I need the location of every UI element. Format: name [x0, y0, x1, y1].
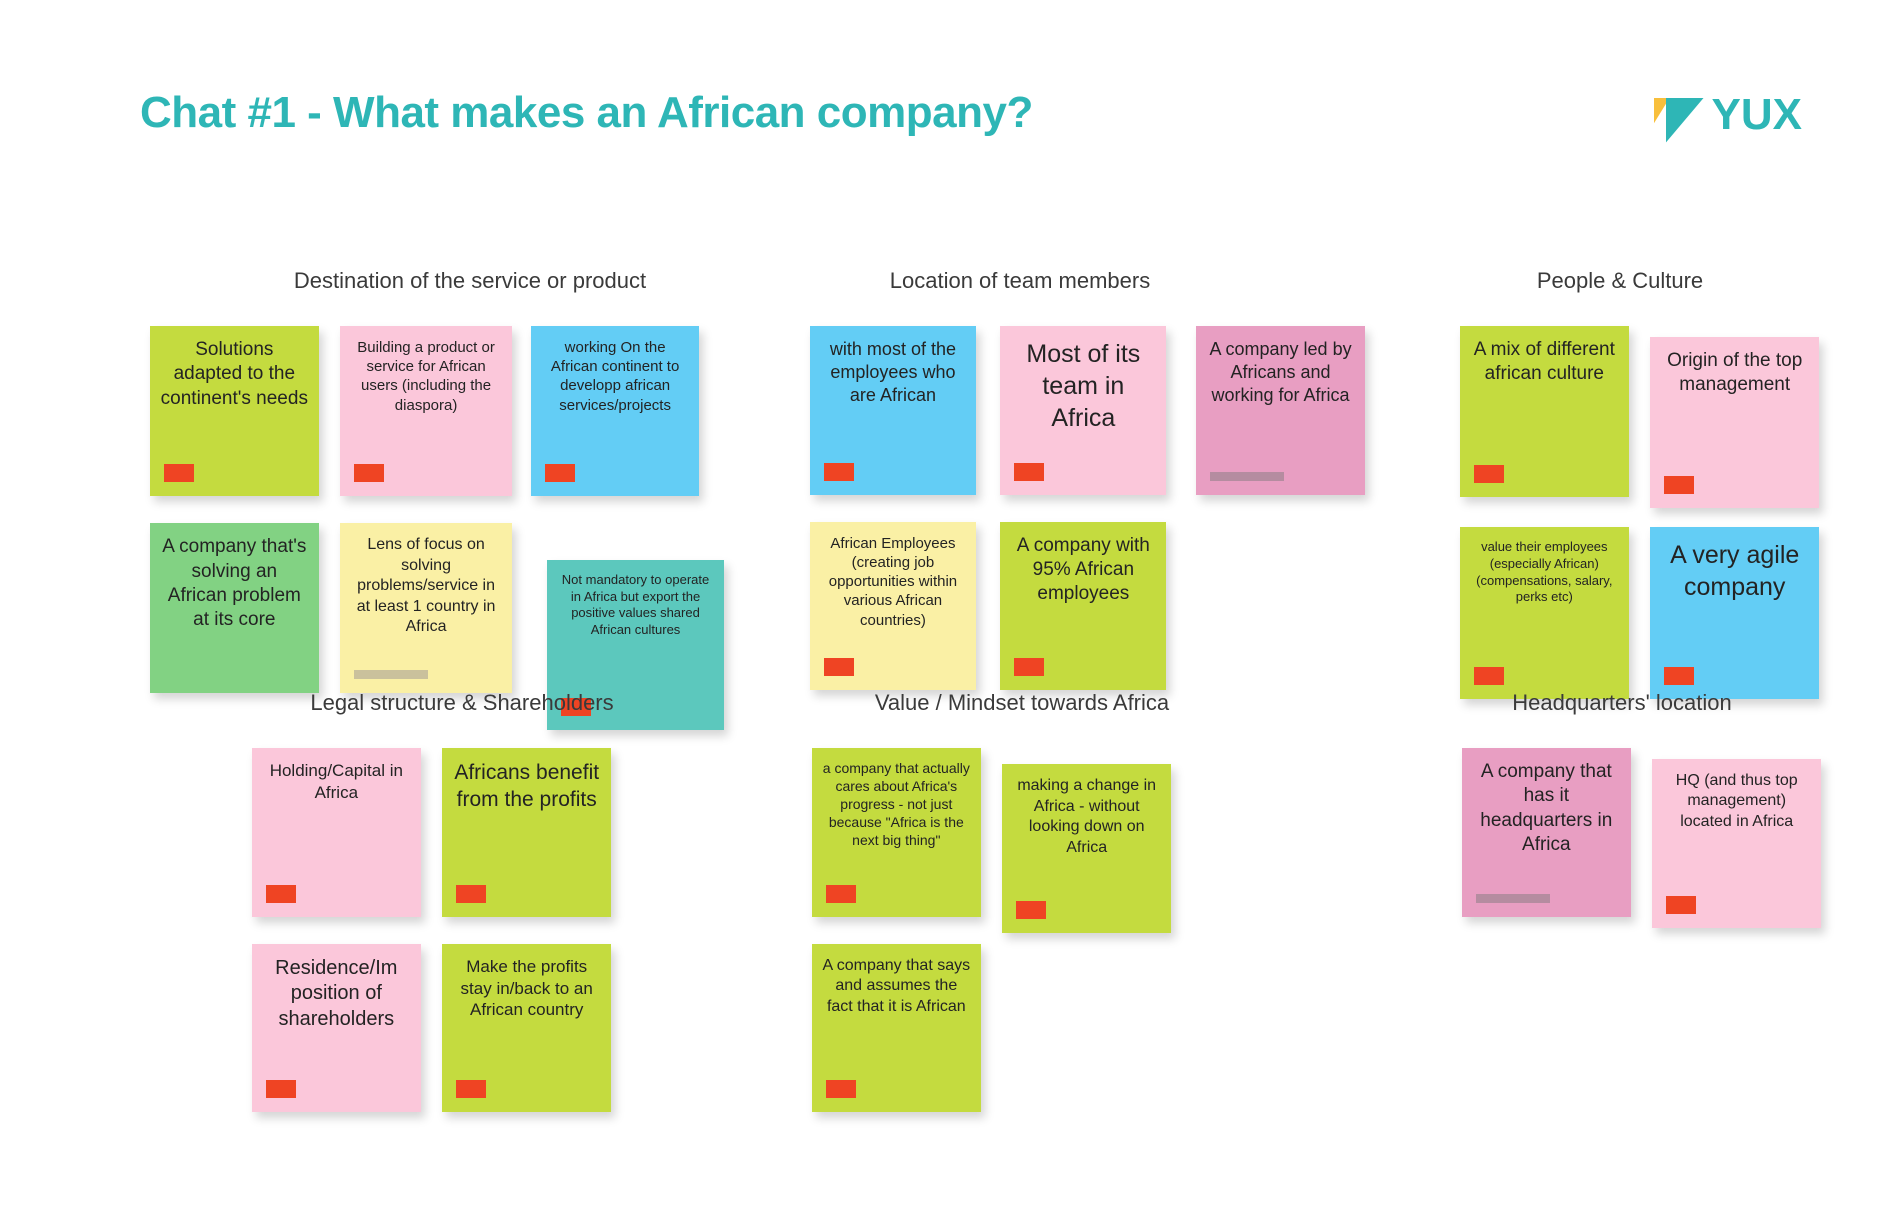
- sticky-note-tag[interactable]: [1474, 465, 1504, 483]
- sticky-note-tag[interactable]: [1014, 658, 1044, 676]
- sticky-note-list: Holding/Capital in AfricaAfricans benefi…: [252, 748, 672, 1168]
- sticky-note[interactable]: a company that actually cares about Afri…: [812, 748, 981, 917]
- sticky-note[interactable]: A company that's solving an African prob…: [150, 523, 319, 693]
- sticky-note[interactable]: Building a product or service for Africa…: [340, 326, 511, 496]
- logo-wordmark: YUX: [1712, 90, 1802, 140]
- sticky-note-tag[interactable]: [824, 658, 854, 676]
- sticky-note[interactable]: Most of its team in Africa: [1000, 326, 1166, 495]
- sticky-note-text: A company that's solving an African prob…: [160, 535, 309, 632]
- sticky-note-text: A company that has it headquarters in Af…: [1472, 760, 1621, 857]
- group-value: Value / Mindset towards Africaa company …: [812, 690, 1232, 1168]
- sticky-note-text: A company led by Africans and working fo…: [1206, 338, 1355, 407]
- group-title: Value / Mindset towards Africa: [812, 690, 1232, 716]
- sticky-note-list: a company that actually cares about Afri…: [812, 748, 1232, 1168]
- sticky-note-tag[interactable]: [266, 1080, 296, 1098]
- group-title: Location of team members: [810, 268, 1230, 294]
- sticky-note[interactable]: Lens of focus on solving problems/servic…: [340, 523, 511, 693]
- sticky-note-text: making a change in Africa - without look…: [1012, 776, 1161, 858]
- sticky-note-text: Make the profits stay in/back to an Afri…: [452, 956, 601, 1021]
- sticky-note-tag[interactable]: [826, 1080, 856, 1098]
- sticky-note-list: Solutions adapted to the continent's nee…: [150, 326, 790, 746]
- group-location: Location of team memberswith most of the…: [810, 268, 1230, 746]
- sticky-note-tag[interactable]: [266, 885, 296, 903]
- sticky-note[interactable]: value their employees (especially Africa…: [1460, 527, 1629, 698]
- sticky-note[interactable]: Holding/Capital in Africa: [252, 748, 421, 917]
- sticky-note[interactable]: Residence/Im position of shareholders: [252, 944, 421, 1113]
- sticky-note[interactable]: HQ (and thus top management) located in …: [1652, 759, 1821, 928]
- logo-triangles-icon: [1654, 94, 1704, 136]
- sticky-note-tag[interactable]: [1664, 476, 1694, 494]
- sticky-note[interactable]: A mix of different african culture: [1460, 326, 1629, 497]
- group-title: Destination of the service or product: [150, 268, 790, 294]
- sticky-note-tag[interactable]: [1476, 894, 1550, 903]
- sticky-note-text: A company with 95% African employees: [1010, 534, 1156, 607]
- sticky-note[interactable]: working On the African continent to deve…: [531, 326, 700, 496]
- sticky-note-tag[interactable]: [1664, 667, 1694, 685]
- sticky-note-list: A mix of different african cultureOrigin…: [1460, 326, 1780, 746]
- page-title: Chat #1 - What makes an African company?: [140, 88, 1033, 138]
- sticky-note-text: Africans benefit from the profits: [452, 760, 601, 814]
- yux-logo: YUX: [1654, 90, 1802, 140]
- sticky-note[interactable]: A very agile company: [1650, 527, 1819, 698]
- sticky-note-tag[interactable]: [1666, 896, 1696, 914]
- sticky-note-text: African Employees (creating job opportun…: [820, 534, 966, 630]
- sticky-note-tag[interactable]: [354, 464, 384, 482]
- sticky-note-text: working On the African continent to deve…: [541, 338, 690, 415]
- sticky-note-tag[interactable]: [1016, 901, 1046, 919]
- group-legal: Legal structure & ShareholdersHolding/Ca…: [252, 690, 672, 1168]
- group-people: People & CultureA mix of different afric…: [1460, 268, 1780, 746]
- sticky-note-text: Building a product or service for Africa…: [350, 338, 501, 415]
- sticky-note[interactable]: Africans benefit from the profits: [442, 748, 611, 917]
- sticky-note-tag[interactable]: [1014, 463, 1044, 481]
- sticky-note-tag[interactable]: [824, 463, 854, 481]
- sticky-note[interactable]: A company that has it headquarters in Af…: [1462, 748, 1631, 917]
- group-title: People & Culture: [1460, 268, 1780, 294]
- sticky-note-tag[interactable]: [456, 1080, 486, 1098]
- sticky-note[interactable]: making a change in Africa - without look…: [1002, 764, 1171, 933]
- logo-teal-triangle-icon: [1666, 98, 1704, 143]
- sticky-note-text: Solutions adapted to the continent's nee…: [160, 338, 309, 411]
- sticky-note-tag[interactable]: [164, 464, 194, 482]
- sticky-note[interactable]: Solutions adapted to the continent's nee…: [150, 326, 319, 496]
- sticky-note-text: A very agile company: [1660, 539, 1809, 603]
- sticky-note[interactable]: African Employees (creating job opportun…: [810, 522, 976, 691]
- sticky-note-list: A company that has it headquarters in Af…: [1462, 748, 1782, 1168]
- sticky-note-text: a company that actually cares about Afri…: [822, 760, 971, 850]
- group-title: Legal structure & Shareholders: [252, 690, 672, 716]
- sticky-note[interactable]: Make the profits stay in/back to an Afri…: [442, 944, 611, 1113]
- sticky-note-text: value their employees (especially Africa…: [1470, 539, 1619, 606]
- sticky-note[interactable]: with most of the employees who are Afric…: [810, 326, 976, 495]
- sticky-note-text: Lens of focus on solving problems/servic…: [350, 535, 501, 637]
- group-destination: Destination of the service or productSol…: [150, 268, 790, 746]
- sticky-note-text: HQ (and thus top management) located in …: [1662, 771, 1811, 832]
- sticky-note-list: with most of the employees who are Afric…: [810, 326, 1230, 746]
- sticky-note-text: with most of the employees who are Afric…: [820, 338, 966, 407]
- sticky-note-tag[interactable]: [456, 885, 486, 903]
- sticky-note-tag[interactable]: [354, 670, 428, 679]
- sticky-note-tag[interactable]: [1210, 472, 1284, 481]
- whiteboard-canvas: Chat #1 - What makes an African company?…: [0, 0, 1880, 1226]
- sticky-note-text: Most of its team in Africa: [1010, 338, 1156, 434]
- group-title: Headquarters' location: [1462, 690, 1782, 716]
- sticky-note[interactable]: A company led by Africans and working fo…: [1196, 326, 1365, 495]
- sticky-note-text: Not mandatory to operate in Africa but e…: [557, 572, 714, 639]
- sticky-note-text: A company that says and assumes the fact…: [822, 956, 971, 1017]
- sticky-note-tag[interactable]: [1474, 667, 1504, 685]
- sticky-note-text: Residence/Im position of shareholders: [262, 956, 411, 1033]
- sticky-note[interactable]: Origin of the top management: [1650, 337, 1819, 508]
- sticky-note[interactable]: A company with 95% African employees: [1000, 522, 1166, 691]
- sticky-note-text: A mix of different african culture: [1470, 338, 1619, 387]
- group-hq: Headquarters' locationA company that has…: [1462, 690, 1782, 1168]
- sticky-note-tag[interactable]: [545, 464, 575, 482]
- sticky-note-text: Holding/Capital in Africa: [262, 760, 411, 804]
- sticky-note-text: Origin of the top management: [1660, 349, 1809, 398]
- sticky-note[interactable]: A company that says and assumes the fact…: [812, 944, 981, 1113]
- sticky-note-tag[interactable]: [826, 885, 856, 903]
